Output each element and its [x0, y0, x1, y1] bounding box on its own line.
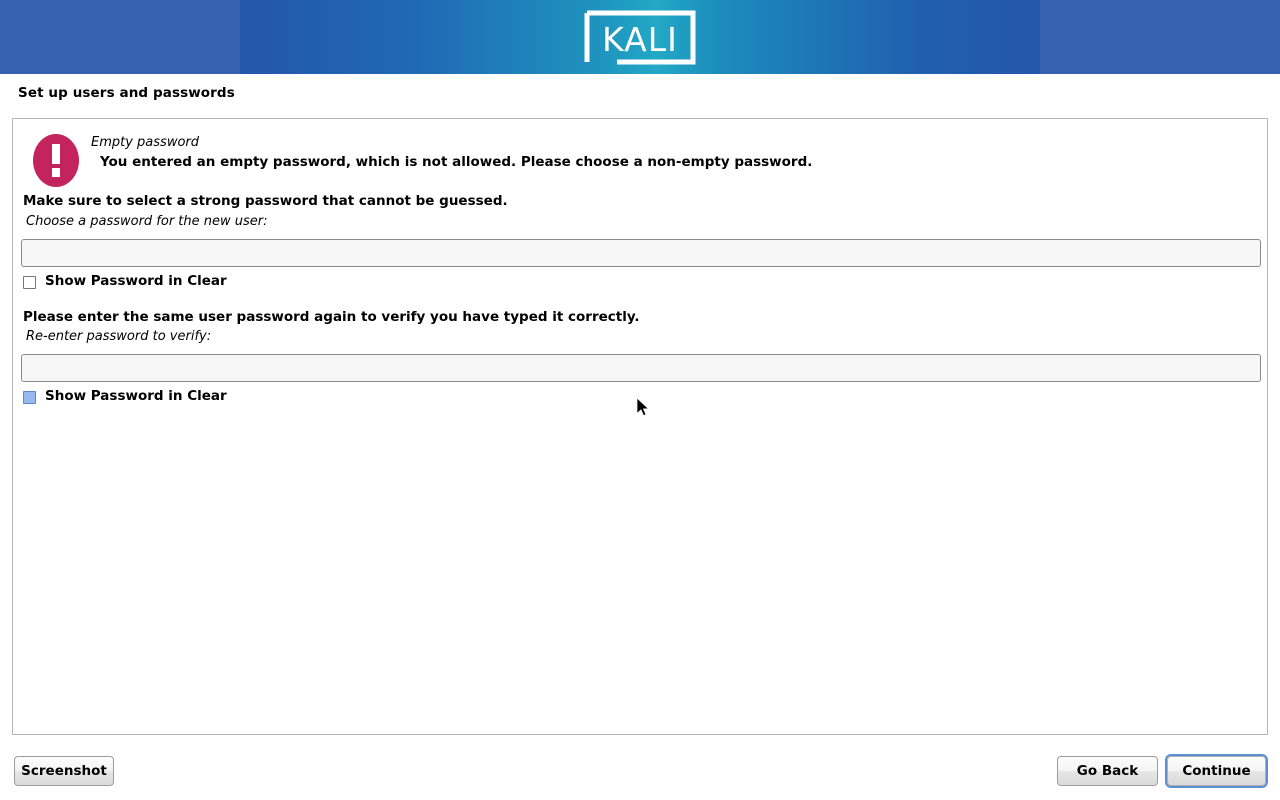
content-panel: Empty password You entered an empty pass…	[12, 118, 1268, 735]
verify-password-hint: Please enter the same user password agai…	[23, 309, 640, 325]
verify-field-label: Re-enter password to verify:	[26, 329, 211, 344]
go-back-button[interactable]: Go Back	[1057, 756, 1158, 786]
screenshot-button[interactable]: Screenshot	[14, 756, 114, 786]
header-banner: KALI	[0, 0, 1280, 74]
strong-password-hint: Make sure to select a strong password th…	[23, 193, 508, 209]
verify-password-input[interactable]	[21, 354, 1261, 382]
svg-text:KALI: KALI	[602, 20, 678, 59]
page-title: Set up users and passwords	[18, 85, 235, 101]
error-title: Empty password	[91, 135, 199, 150]
continue-button[interactable]: Continue	[1167, 756, 1266, 786]
kali-logo-icon: KALI	[583, 10, 697, 65]
show-password-checkbox-2[interactable]	[23, 391, 36, 404]
continue-button-focus-ring: Continue	[1165, 754, 1268, 788]
show-password-checkbox-1[interactable]	[23, 276, 36, 289]
password-field-label: Choose a password for the new user:	[26, 214, 268, 229]
show-password-label-2: Show Password in Clear	[45, 388, 227, 404]
error-message: You entered an empty password, which is …	[100, 154, 812, 170]
error-exclamation-icon	[33, 134, 79, 187]
show-password-label-1: Show Password in Clear	[45, 273, 227, 289]
password-input[interactable]	[21, 239, 1261, 267]
kali-installer-window: KALI Set up users and passwords Empty pa…	[0, 0, 1280, 800]
